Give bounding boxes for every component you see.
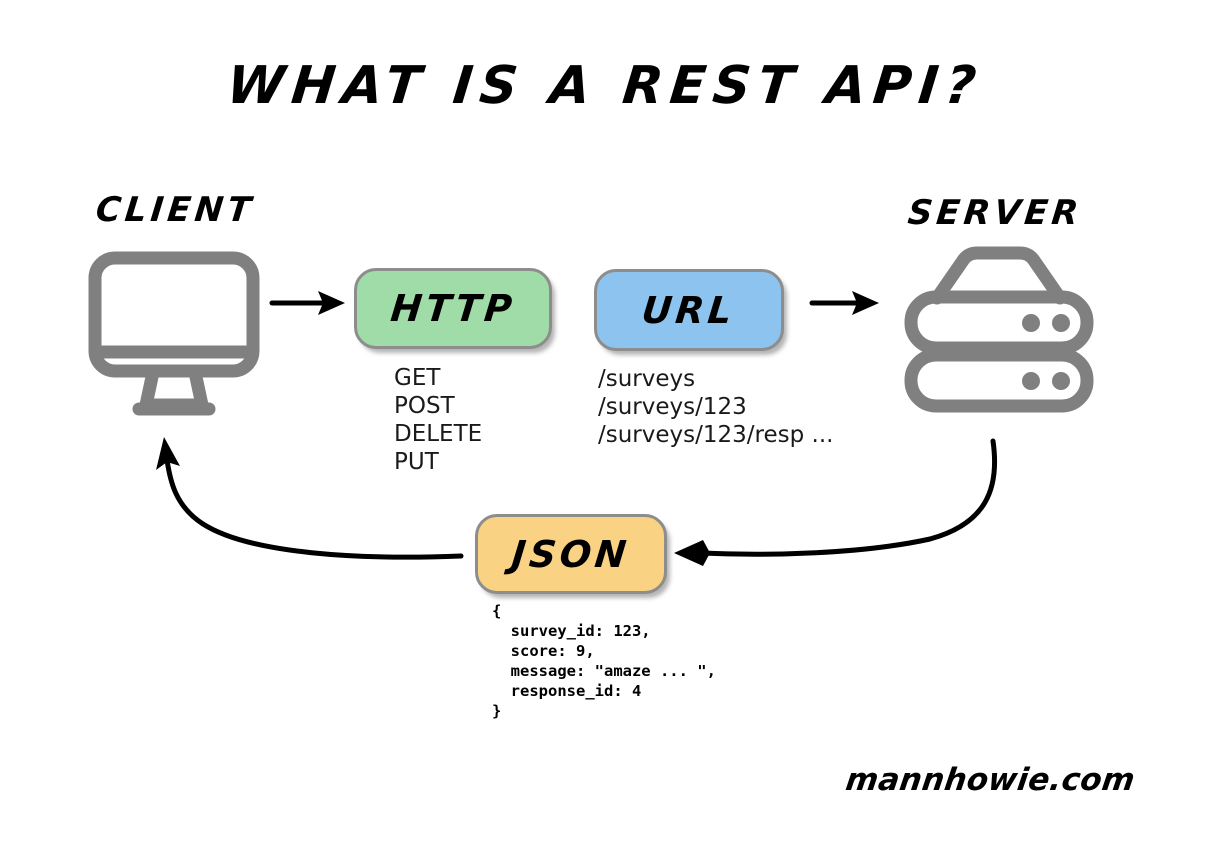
json-box[interactable]: JSON <box>475 514 667 594</box>
http-methods-list: GET POST DELETE PUT <box>394 364 482 476</box>
url-paths-list: /surveys /surveys/123 /surveys/123/resp … <box>598 365 833 449</box>
diagram-canvas: WHAT IS A REST API? CLIENT SERVER HTTP U… <box>0 0 1210 848</box>
arrow-client-to-http <box>272 291 345 315</box>
json-box-label: JSON <box>510 533 632 576</box>
site-watermark: mannhowie.com <box>843 762 1137 798</box>
url-box[interactable]: URL <box>594 269 784 351</box>
arrow-url-to-server <box>812 291 879 315</box>
server-rack-icon <box>911 253 1087 406</box>
http-box-label: HTTP <box>389 287 518 330</box>
json-payload-code: { survey_id: 123, score: 9, message: "am… <box>492 601 716 721</box>
page-title: WHAT IS A REST API? <box>0 56 1210 116</box>
http-box[interactable]: HTTP <box>354 268 552 349</box>
arrow-server-to-json <box>674 441 995 566</box>
server-label: SERVER <box>906 193 1084 233</box>
client-label: CLIENT <box>94 190 257 230</box>
desktop-monitor-icon <box>95 258 253 409</box>
url-box-label: URL <box>640 289 738 332</box>
